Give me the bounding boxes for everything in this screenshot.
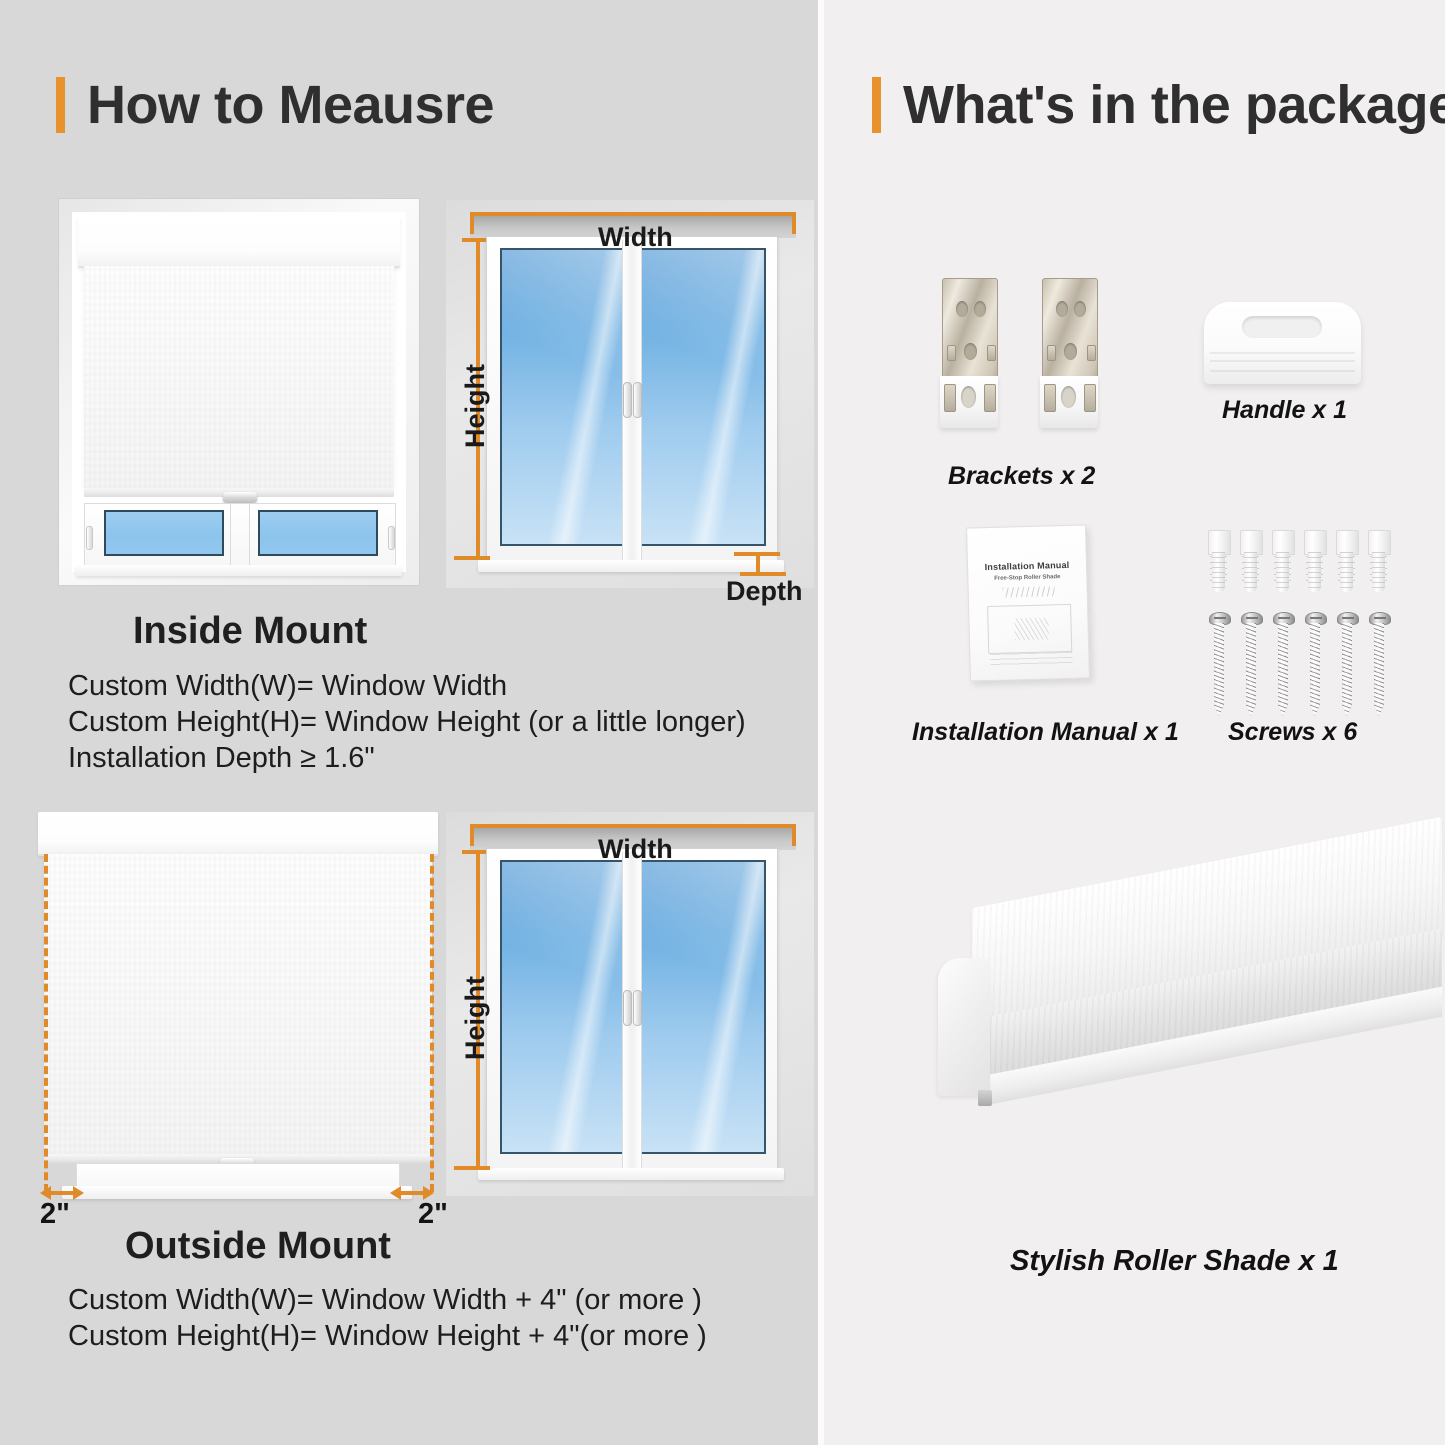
height-label: Height [460,976,491,1060]
right-overhang-label: 2" [418,1198,448,1231]
manual-cover-title: Installation Manual [968,559,1086,572]
left-overhang-guide [44,854,48,1192]
manual-cover-subtitle: Free-Stop Roller Shade [968,573,1086,582]
package-heading: What's in the package [872,74,1445,136]
product-infographic: How to Meausre What's in the package [0,0,1445,1445]
outside-mount-title: Outside Mount [125,1225,391,1268]
inside-mount-line-2: Custom Height(H)= Window Height (or a li… [68,706,746,739]
how-to-measure-heading-text: How to Meausre [87,74,494,136]
outside-mount-line-2: Custom Height(H)= Window Height + 4"(or … [68,1320,707,1353]
left-overhang-label: 2" [40,1198,70,1231]
depth-label: Depth [726,576,803,607]
roller-shade-caption: Stylish Roller Shade x 1 [1010,1245,1339,1278]
how-to-measure-heading: How to Meausre [56,74,494,136]
outside-mount-line-1: Custom Width(W)= Window Width + 4" (or m… [68,1284,702,1317]
right-overhang-guide [430,854,434,1192]
inside-mount-line-1: Custom Width(W)= Window Width [68,670,507,703]
handle-illustration [1204,302,1361,384]
accent-bar-icon [872,77,881,133]
width-label: Width [598,222,673,253]
package-heading-text: What's in the package [903,74,1445,136]
installation-manual-illustration: Installation Manual Free-Stop Roller Sha… [966,524,1090,681]
width-label: Width [598,834,673,865]
brackets-caption: Brackets x 2 [948,462,1095,491]
width-dimension-line [470,212,796,216]
accent-bar-icon [56,77,65,133]
roller-shade-illustration [930,900,1430,1200]
handle-caption: Handle x 1 [1222,396,1347,425]
inside-mount-line-3: Installation Depth ≥ 1.6" [68,742,375,775]
installation-manual-caption: Installation Manual x 1 [912,718,1179,747]
inside-mount-title: Inside Mount [133,610,367,653]
screws-caption: Screws x 6 [1228,718,1357,747]
height-label: Height [460,364,491,448]
